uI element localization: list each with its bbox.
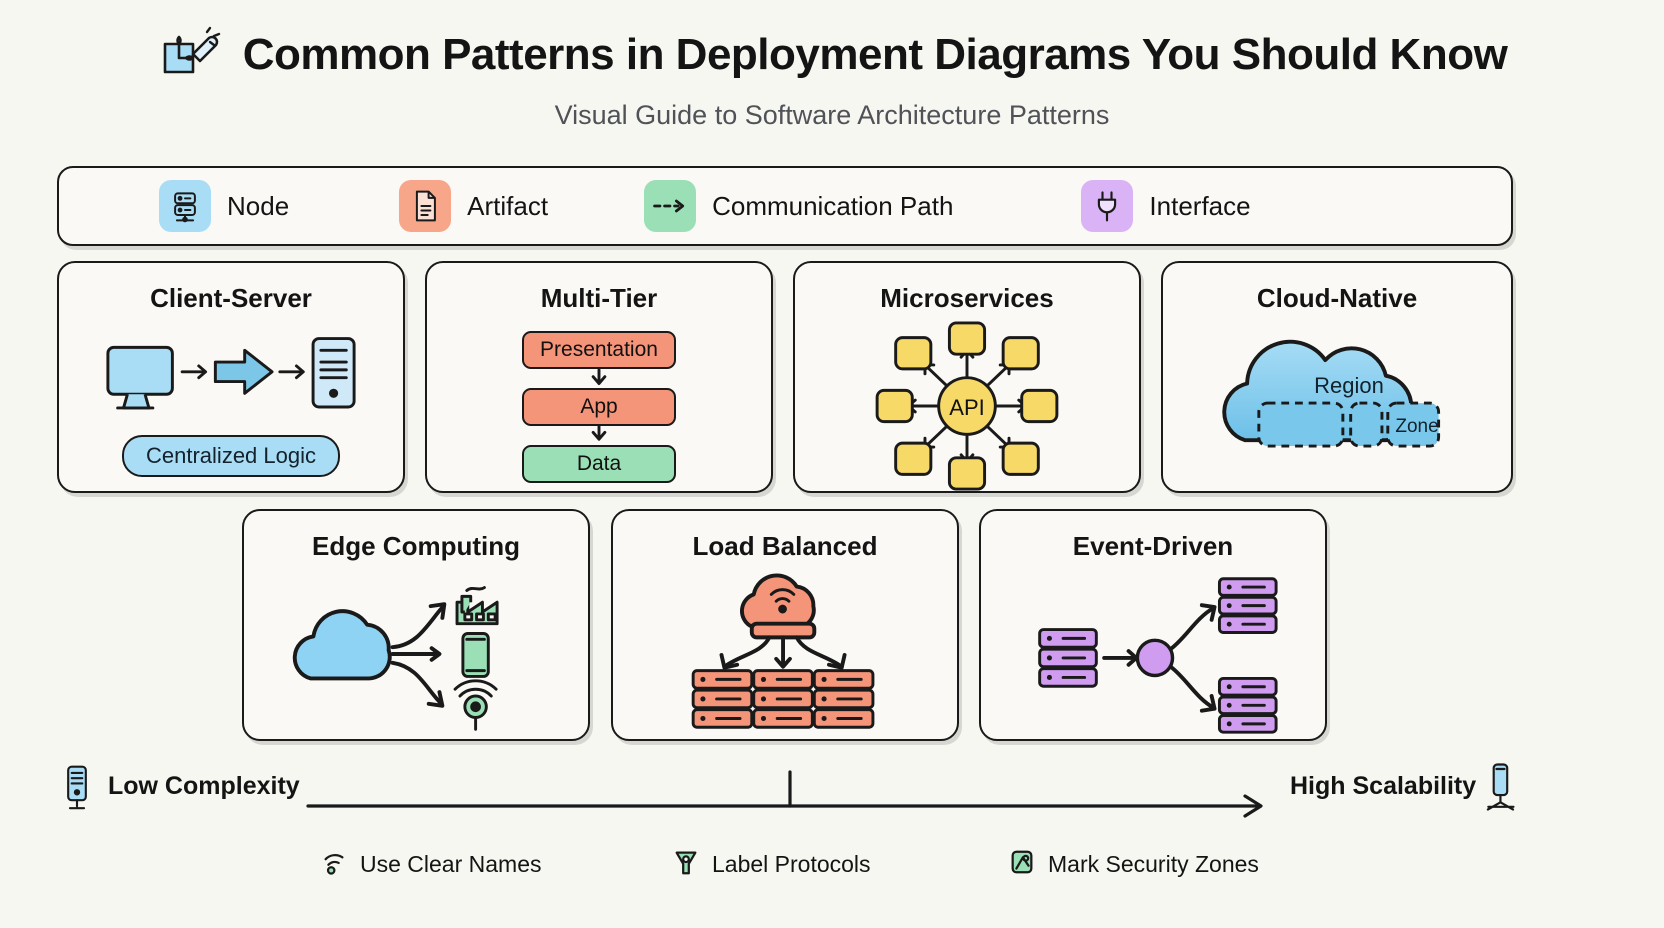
tier-app: App: [522, 388, 676, 426]
legend-item-communication-path: Communication Path: [644, 180, 953, 232]
server-rack-icon: [159, 180, 211, 232]
card-title-load-balanced: Load Balanced: [613, 531, 957, 562]
pattern-card-microservices[interactable]: Microservices: [793, 261, 1141, 493]
card-body-edge-computing: [244, 569, 588, 739]
puzzle-piece-icon: [157, 26, 221, 88]
pattern-card-cloud-native[interactable]: Cloud-Native Region Zone: [1161, 261, 1513, 493]
tip-use-clear-names: Use Clear Names: [320, 848, 542, 881]
tips-row: Use Clear Names Label Protocols: [0, 848, 1664, 898]
document-icon: [399, 180, 451, 232]
shield-zone-icon: [1008, 848, 1036, 881]
tip-label-mark-security-zones: Mark Security Zones: [1048, 851, 1259, 878]
card-body-load-balanced: [613, 569, 957, 739]
card-title-event-driven: Event-Driven: [981, 531, 1325, 562]
tip-label-protocols: Label Protocols: [672, 848, 871, 881]
page-subtitle: Visual Guide to Software Architecture Pa…: [0, 100, 1664, 131]
dashed-arrow-icon: [644, 180, 696, 232]
cloud-native-diagram: [1163, 321, 1511, 491]
fanout-arrows: [393, 604, 445, 706]
card-body-client-server: Centralized Logic: [59, 321, 403, 491]
card-body-microservices: API: [795, 321, 1139, 491]
edge-computing-diagram: [244, 569, 588, 739]
pattern-card-multi-tier[interactable]: Multi-Tier Presentation App Data: [425, 261, 773, 493]
broker-circle-icon: [1137, 640, 1172, 675]
card-title-client-server: Client-Server: [59, 283, 403, 314]
card-body-event-driven: [981, 569, 1325, 739]
load-balanced-diagram: [613, 569, 957, 739]
load-balancer-cloud-icon: [742, 575, 814, 637]
arrow-right-icon: [1104, 651, 1136, 665]
pattern-card-load-balanced[interactable]: Load Balanced: [611, 509, 959, 741]
legend-label-communication-path: Communication Path: [712, 191, 953, 222]
card-title-edge-computing: Edge Computing: [244, 531, 588, 562]
funnel-icon: [672, 848, 700, 881]
cloud-icon: [295, 611, 390, 678]
tier-data: Data: [522, 445, 676, 483]
card-body-multi-tier: Presentation App Data: [427, 321, 771, 491]
iot-sensor-icon: [455, 681, 496, 729]
legend-item-node: Node: [159, 180, 289, 232]
pattern-card-event-driven[interactable]: Event-Driven: [979, 509, 1327, 741]
legend-item-interface: Interface: [1081, 180, 1250, 232]
server-tower-icon: [62, 762, 92, 817]
page-title: Common Patterns in Deployment Diagrams Y…: [243, 30, 1508, 80]
axis-label-high-scalability: High Scalability: [1290, 772, 1476, 801]
card-body-cloud-native: Region Zone: [1163, 321, 1511, 491]
wifi-icon: [320, 848, 348, 881]
factory-icon: [457, 588, 497, 624]
event-driven-diagram: [981, 569, 1325, 739]
status-badge-centralized-logic: Centralized Logic: [122, 435, 340, 477]
thick-arrow-icon: [215, 350, 272, 393]
tip-label-label-protocols: Label Protocols: [712, 851, 871, 878]
microservices-diagram: [795, 321, 1139, 491]
title-row: Common Patterns in Deployment Diagrams Y…: [0, 22, 1664, 88]
monitor-icon: [108, 347, 172, 408]
server-tower-icon: [313, 339, 354, 407]
axis-label-low-complexity: Low Complexity: [108, 772, 300, 801]
fanout-arrows: [1171, 605, 1215, 711]
page-header: Common Patterns in Deployment Diagrams Y…: [0, 22, 1664, 131]
legend-bar: Node Artifact: [57, 166, 1513, 246]
api-hub-circle: [939, 378, 996, 435]
legend-item-artifact: Artifact: [399, 180, 548, 232]
tip-label-use-clear-names: Use Clear Names: [360, 851, 542, 878]
server-rack-icon: [1219, 579, 1276, 732]
poster-root: Common Patterns in Deployment Diagrams Y…: [0, 0, 1664, 928]
card-title-multi-tier: Multi-Tier: [427, 283, 771, 314]
server-tower-icon: [1482, 762, 1518, 817]
axis-line: [300, 762, 1290, 822]
pattern-card-client-server[interactable]: Client-Server: [57, 261, 405, 493]
tier-presentation: Presentation: [522, 331, 676, 369]
plug-icon: [1081, 180, 1133, 232]
arrow-right-icon: [280, 366, 303, 378]
legend-label-interface: Interface: [1149, 191, 1250, 222]
pattern-card-edge-computing[interactable]: Edge Computing: [242, 509, 590, 741]
complexity-scalability-axis: Low Complexity High Scalability: [0, 762, 1664, 822]
legend-label-artifact: Artifact: [467, 191, 548, 222]
arrow-right-icon: [182, 366, 205, 378]
card-title-microservices: Microservices: [795, 283, 1139, 314]
mobile-phone-icon: [463, 633, 488, 676]
distribution-arrows: [721, 637, 844, 667]
legend-label-node: Node: [227, 191, 289, 222]
card-title-cloud-native: Cloud-Native: [1163, 283, 1511, 314]
tip-mark-security-zones: Mark Security Zones: [1008, 848, 1259, 881]
